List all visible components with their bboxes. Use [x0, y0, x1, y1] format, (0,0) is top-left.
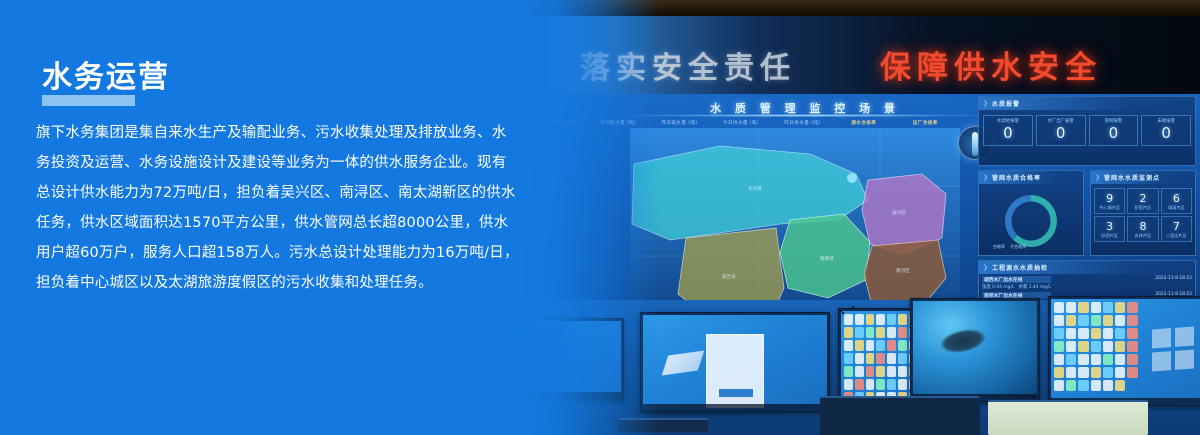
desktop-icon[interactable]: [1127, 341, 1137, 352]
desktop-icon[interactable]: [1066, 302, 1076, 313]
monitor-point-label: 中心城片区: [1095, 205, 1124, 211]
monitor-point-cell[interactable]: 3 妙西片区: [1094, 216, 1125, 242]
desktop-icon[interactable]: [844, 353, 853, 364]
panel-quality-pass-rate: ❯ 管网水质合格率 合格率 不合格率: [978, 170, 1084, 256]
desktop-icon[interactable]: [1127, 367, 1137, 378]
desktop-icon[interactable]: [1066, 367, 1076, 378]
donut-legend: 合格率 不合格率: [993, 244, 1026, 250]
desktop-icon[interactable]: [1054, 341, 1064, 352]
monitor-point-label: 东林片区: [1128, 233, 1157, 239]
monitor-point-cell[interactable]: 9 中心城片区: [1094, 188, 1125, 214]
desktop-icon[interactable]: [1103, 354, 1113, 365]
alarm-card[interactable]: 水源地报警 0: [983, 115, 1033, 146]
monitor-point-value: 7: [1162, 220, 1191, 233]
legend-pass: 合格率: [993, 244, 1005, 249]
monitor-point-cell[interactable]: 7 八里店片区: [1161, 216, 1192, 242]
desktop-icon[interactable]: [1127, 328, 1137, 339]
desktop-icon[interactable]: [1091, 328, 1101, 339]
desktop-icon[interactable]: [1091, 302, 1101, 313]
slogan-red: 保障供水安全: [880, 42, 1102, 87]
panel-header: ❯ 水质报警: [979, 97, 1195, 110]
desktop-icon[interactable]: [1115, 315, 1125, 326]
inspection-metric-turbidity: 浊度 0.04 mg/L: [982, 285, 1014, 290]
panel-header: ❯ 工程源水水质抽检: [979, 261, 1195, 274]
dashboard-title-glow: [620, 114, 990, 117]
pass-rate-donut-chart: [1005, 195, 1057, 247]
svg-text:长兴县: 长兴县: [748, 185, 762, 192]
desktop-icon[interactable]: [1078, 328, 1088, 339]
chevron-right-icon: ❯: [1095, 174, 1101, 181]
desktop-icon[interactable]: [1078, 367, 1088, 378]
desktop-icon[interactable]: [1103, 302, 1113, 313]
paragraph-line: 担负着中心城区以及太湖旅游度假区的污水收集和处理任务。: [36, 268, 536, 298]
paragraph-line: 总设计供水能力为72万吨/日，担负着吴兴区、南浔区、南太湖新区的供水: [36, 178, 536, 208]
alarm-card[interactable]: 末端报警 0: [1141, 115, 1191, 146]
panel-monitor-points: ❯ 管网水水质监测点 9 中心城片区 2 织里片区: [1090, 170, 1196, 256]
inspection-time: 2022-11-9 18:22: [1155, 276, 1192, 281]
panel-header: ❯ 管网水水质监测点: [1091, 171, 1195, 184]
panel-title: 管网水质合格率: [992, 173, 1041, 182]
desktop-icon[interactable]: [1091, 380, 1101, 391]
monitor-point-value: 9: [1095, 192, 1124, 205]
desktop-icon[interactable]: [1103, 367, 1113, 378]
banner-root: 落实安全责任 保障供水安全 水 质 管 理 监 控 场 景 今日供水量 (万吨)…: [0, 0, 1200, 435]
desktop-icon[interactable]: [1054, 315, 1064, 326]
panel-water-quality-alarm: ❯ 水质报警 水源地报警 0 水厂出厂报警 0: [978, 96, 1196, 166]
monitor-point-cell[interactable]: 8 东林片区: [1127, 216, 1158, 242]
monitor-point-label: 八里店片区: [1162, 233, 1191, 239]
alarm-card-label: 末端报警: [1142, 118, 1190, 124]
desktop-icon[interactable]: [1127, 315, 1137, 326]
desktop-icon[interactable]: [1127, 354, 1137, 365]
svg-text:南浔区: 南浔区: [896, 267, 910, 274]
chevron-right-icon: ❯: [983, 100, 989, 107]
panel-title: 工程源水水质抽检: [992, 263, 1048, 272]
panel-title: 管网水水质监测点: [1104, 173, 1160, 182]
desktop-icon[interactable]: [1103, 315, 1113, 326]
alarm-card-value: 0: [984, 125, 1032, 142]
kpi-label: 今日供水量 (吨): [710, 120, 771, 126]
desktop-icon[interactable]: [1115, 380, 1125, 391]
desktop-icon[interactable]: [844, 379, 853, 390]
kpi-label: 源水合格率: [833, 120, 894, 126]
desktop-icon[interactable]: [887, 366, 896, 377]
alarm-card-value: 0: [1142, 125, 1190, 142]
dialog-window[interactable]: [706, 334, 764, 408]
desktop-icon[interactable]: [1054, 302, 1064, 313]
monitor-point-value: 6: [1162, 192, 1191, 205]
monitor-point-value: 3: [1095, 220, 1124, 233]
desktop-icon[interactable]: [1091, 315, 1101, 326]
monitor-point-value: 2: [1128, 192, 1157, 205]
svg-text:吴兴区: 吴兴区: [892, 209, 906, 216]
document-paper: [988, 400, 1148, 435]
page-title: 水务运营: [42, 52, 170, 96]
alarm-card-value: 0: [1090, 125, 1138, 142]
desktop-icon[interactable]: [844, 314, 853, 325]
desktop-icon[interactable]: [887, 327, 896, 338]
panel-title: 水质报警: [992, 99, 1020, 108]
alarm-card-label: 水源地报警: [984, 118, 1032, 124]
title-underline-bar: [42, 95, 135, 106]
desktop-icon[interactable]: [1078, 302, 1088, 313]
desktop-icon[interactable]: [898, 327, 907, 338]
desktop-icon[interactable]: [866, 366, 875, 377]
map-marker: [847, 173, 857, 183]
desktop-icon[interactable]: [1103, 380, 1113, 391]
paragraph-line: 用户超60万户，服务人口超158万人。污水总设计处理能力为16万吨/日，: [36, 238, 536, 268]
legend-fail: 不合格率: [1010, 244, 1026, 249]
desktop-icon[interactable]: [1115, 302, 1125, 313]
desktop-icon[interactable]: [855, 379, 864, 390]
inspection-site: 城西水厂出水在线: [982, 276, 1051, 283]
desktop-icon[interactable]: [1054, 354, 1064, 365]
desktop-icon[interactable]: [1078, 380, 1088, 391]
desktop-icon[interactable]: [866, 327, 875, 338]
chevron-right-icon: ❯: [983, 264, 989, 271]
desktop-icon[interactable]: [1054, 328, 1064, 339]
monitor-point-cell[interactable]: 6 埭溪片区: [1161, 188, 1192, 214]
alarm-card-value: 0: [1037, 125, 1085, 142]
desktop-icon[interactable]: [1066, 380, 1076, 391]
desktop-icon[interactable]: [1115, 328, 1125, 339]
desktop-icon[interactable]: [1127, 302, 1137, 313]
text-content: 水务运营 旗下水务集团是集自来水生产及输配业务、污水收集处理及排放业务、水 务投…: [0, 0, 560, 435]
inspection-row[interactable]: 城西水厂出水在线 浊度 0.04 mg/L 余氯 1.44 mg/L 2022-…: [982, 276, 1192, 290]
desktop-icon[interactable]: [1091, 341, 1101, 352]
kpi-label: 昨日供水量 (吨): [772, 120, 833, 126]
alarm-card[interactable]: 水厂出厂报警 0: [1036, 115, 1086, 146]
desktop-icon[interactable]: [887, 353, 896, 364]
monitor-point-label: 织里片区: [1128, 205, 1157, 211]
monitor-point-label: 妙西片区: [1095, 233, 1124, 239]
desktop-icon[interactable]: [876, 314, 885, 325]
kpi-label: 出厂合格率: [895, 120, 956, 126]
taskbar: [643, 404, 827, 409]
desktop-icon[interactable]: [898, 340, 907, 351]
desktop-icon[interactable]: [855, 366, 864, 377]
alarm-card[interactable]: 管网报警 0: [1089, 115, 1139, 146]
center-monitor[interactable]: [640, 312, 830, 412]
desktop-icon[interactable]: [876, 353, 885, 364]
desktop-icon[interactable]: [1054, 367, 1064, 378]
underwater-monitor[interactable]: [910, 298, 1040, 402]
paragraph-line: 任务，供水区域面积达1570平方公里，供水管网总长超8000公里，供水: [36, 208, 536, 238]
monitor-point-value: 8: [1128, 220, 1157, 233]
dashboard-right-panels: ❯ 水质报警 水源地报警 0 水厂出厂报警 0: [978, 96, 1196, 330]
desktop-icon[interactable]: [898, 379, 907, 390]
description-paragraph: 旗下水务集团是集自来水生产及输配业务、污水收集处理及排放业务、水 务投资及运营、…: [36, 118, 536, 298]
paragraph-line: 旗下水务集团是集自来水生产及输配业务、污水收集处理及排放业务、水: [36, 118, 536, 148]
desktop-icon[interactable]: [1054, 380, 1064, 391]
desktop-icon[interactable]: [887, 314, 896, 325]
chevron-right-icon: ❯: [983, 174, 989, 181]
desktop-icon[interactable]: [1066, 328, 1076, 339]
desktop-icon[interactable]: [866, 379, 875, 390]
panel-header: ❯ 管网水质合格率: [979, 171, 1083, 184]
desktop-icon[interactable]: [1115, 354, 1125, 365]
desktop-icon[interactable]: [1078, 354, 1088, 365]
monitor-point-label: 埭溪片区: [1162, 205, 1191, 211]
paragraph-line: 务投资及运营、水务设施设计及建设等业务为一体的供水服务企业。现有: [36, 148, 536, 178]
desktop-icon[interactable]: [1103, 341, 1113, 352]
desktop-icon[interactable]: [1115, 341, 1125, 352]
desktop-icon[interactable]: [1078, 341, 1088, 352]
desktop-icon[interactable]: [1066, 315, 1076, 326]
desktop-icon[interactable]: [898, 314, 907, 325]
desktop-icon[interactable]: [1091, 367, 1101, 378]
desktop-icon[interactable]: [876, 379, 885, 390]
svg-text:德清县: 德清县: [820, 255, 834, 262]
inspection-metric-chlorine: 余氯 1.44 mg/L: [1019, 285, 1051, 290]
desktop-icon[interactable]: [855, 314, 864, 325]
desktop-icon[interactable]: [844, 340, 853, 351]
alarm-card-label: 管网报警: [1090, 118, 1138, 124]
desktop-icon[interactable]: [876, 366, 885, 377]
desktop-icon[interactable]: [855, 340, 864, 351]
alarm-card-label: 水厂出厂报警: [1037, 118, 1085, 124]
desktop-icon[interactable]: [898, 366, 907, 377]
desktop-icon[interactable]: [1078, 315, 1088, 326]
desktop-icon-grid[interactable]: [1051, 299, 1141, 403]
desktop-icon[interactable]: [1103, 328, 1113, 339]
laptop-screen[interactable]: [820, 396, 980, 435]
desktop-icon[interactable]: [876, 327, 885, 338]
windows-logo-icon: [1152, 327, 1194, 372]
monitor-point-cell[interactable]: 2 织里片区: [1127, 188, 1158, 214]
desktop-icon[interactable]: [1091, 354, 1101, 365]
desktop-icon[interactable]: [855, 353, 864, 364]
desktop-icon[interactable]: [866, 353, 875, 364]
desktop-icon[interactable]: [1115, 367, 1125, 378]
svg-text:安吉县: 安吉县: [722, 273, 736, 280]
desktop-icon[interactable]: [887, 340, 896, 351]
desktop-icon[interactable]: [855, 327, 864, 338]
desktop-icon[interactable]: [866, 314, 875, 325]
desktop-icon[interactable]: [887, 379, 896, 390]
desktop-icon[interactable]: [844, 366, 853, 377]
desktop-icon[interactable]: [866, 340, 875, 351]
desktop-icon[interactable]: [1066, 354, 1076, 365]
desktop-icon[interactable]: [898, 353, 907, 364]
windows-monitor[interactable]: [1048, 296, 1200, 406]
desktop-icon[interactable]: [844, 327, 853, 338]
desktop-icon[interactable]: [876, 340, 885, 351]
desktop-icon[interactable]: [1066, 341, 1076, 352]
